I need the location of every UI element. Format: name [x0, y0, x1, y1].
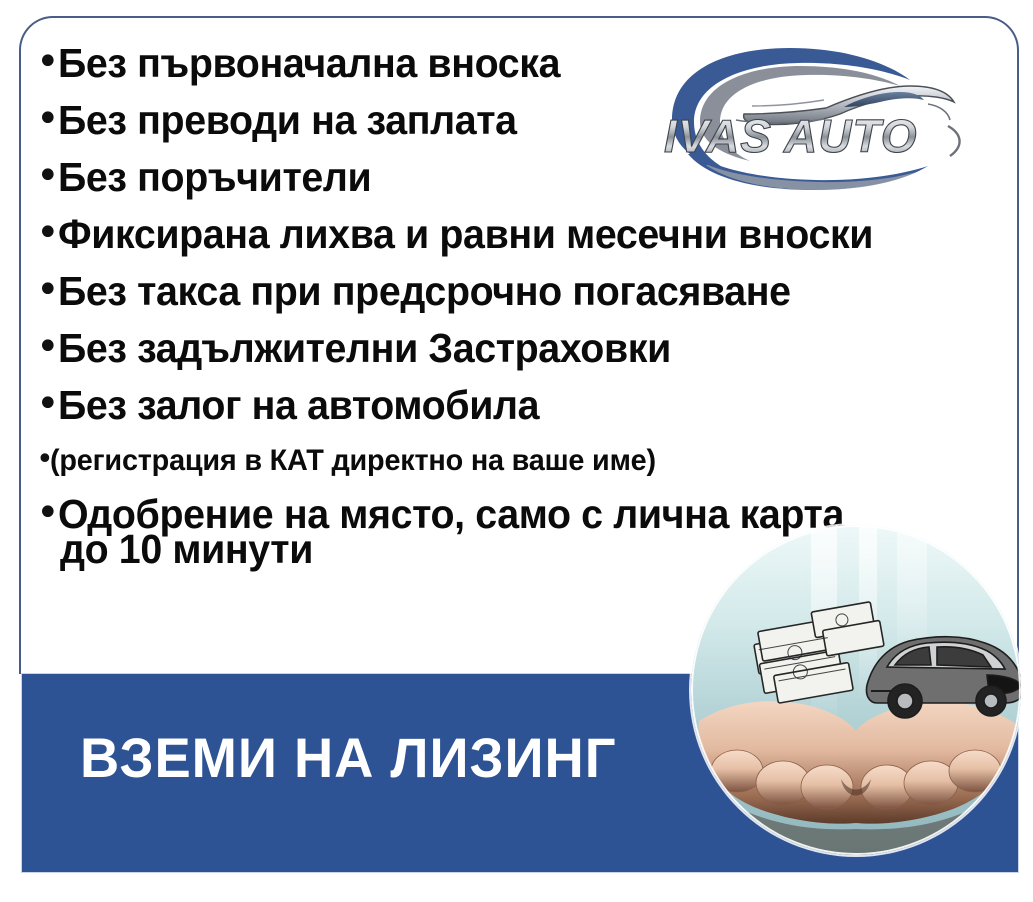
list-item-label: Без залог на автомобила: [58, 382, 978, 428]
poster-canvas: • Без първоначална вноска • Без преводи …: [0, 0, 1033, 902]
bullet-dot-icon: •: [36, 325, 58, 369]
bullet-dot-icon: •: [36, 268, 58, 312]
list-item-label: Без такса при предсрочно погасяване: [58, 268, 978, 314]
list-item-continuation: до 10 минути: [60, 526, 313, 572]
list-item: • Фиксирана лихва и равни месечни вноски: [36, 211, 1016, 268]
list-item: • Без задължителни Застраховки: [36, 325, 1016, 382]
svg-text:IVAS AUTO: IVAS AUTO: [664, 110, 918, 162]
logo-arc-tail: [948, 126, 960, 156]
bullet-dot-icon: •: [36, 491, 58, 535]
list-item: • Без залог на автомобила: [36, 382, 1016, 439]
logo-wordmark: IVAS AUTO: [664, 110, 918, 162]
bullet-dot-icon: •: [36, 97, 58, 141]
bullet-dot-icon: •: [36, 211, 58, 255]
list-item-label: Без задължителни Застраховки: [58, 325, 978, 371]
brand-logo: IVAS AUTO IVAS AUTO: [648, 42, 978, 192]
bullet-dot-icon: •: [36, 40, 58, 84]
list-item-label: Фиксирана лихва и равни месечни вноски: [58, 211, 978, 257]
hands-money-car-photo: [691, 525, 1021, 855]
bullet-dot-icon: •: [36, 439, 50, 481]
list-item: • (регистрация в КАТ директно на ваше им…: [36, 439, 1016, 491]
bullet-dot-icon: •: [36, 382, 58, 426]
bullet-dot-icon: •: [36, 154, 58, 198]
list-item-label: (регистрация в КАТ директно на ваше име): [50, 439, 977, 483]
cta-banner-label: ВЗЕМИ НА ЛИЗИНГ: [80, 728, 617, 788]
list-item: • Без такса при предсрочно погасяване: [36, 268, 1016, 325]
